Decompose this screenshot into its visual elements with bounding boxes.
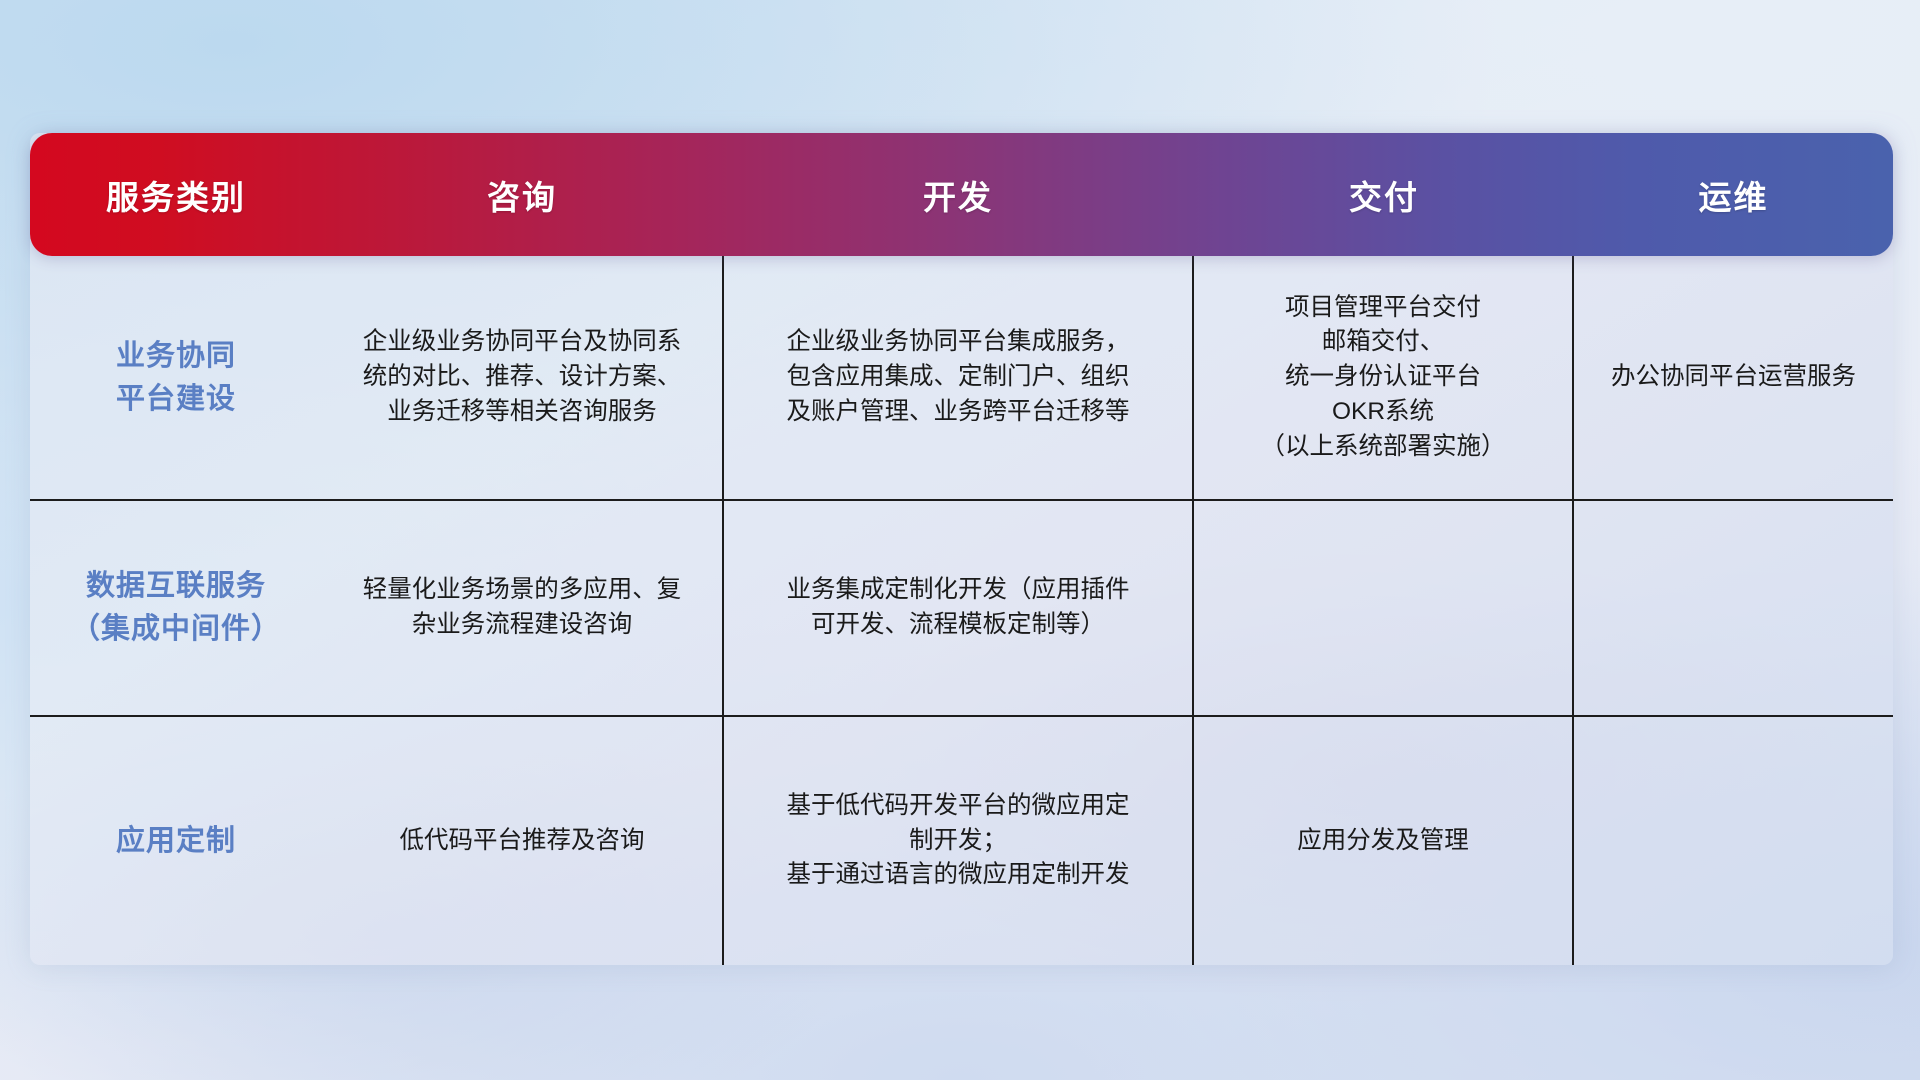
cell-development: 企业级业务协同平台集成服务， 包含应用集成、定制门户、组织 及账户管理、业务跨平… bbox=[722, 256, 1194, 499]
table-row: 应用定制 低代码平台推荐及咨询 基于低代码开发平台的微应用定 制开发； 基于通过… bbox=[30, 717, 1893, 965]
column-header-development: 开发 bbox=[722, 171, 1194, 219]
cell-delivery: 项目管理平台交付 邮箱交付、 统一身份认证平台 OKR系统 （以上系统部署实施） bbox=[1194, 256, 1574, 499]
cell-consulting: 企业级业务协同平台及协同系 统的对比、推荐、设计方案、 业务迁移等相关咨询服务 bbox=[322, 256, 722, 499]
cell-consulting: 轻量化业务场景的多应用、复 杂业务流程建设咨询 bbox=[322, 501, 722, 715]
cell-development: 基于低代码开发平台的微应用定 制开发； 基于通过语言的微应用定制开发 bbox=[722, 717, 1194, 965]
row-category-label: 业务协同 平台建设 bbox=[30, 256, 322, 499]
table-row: 业务协同 平台建设 企业级业务协同平台及协同系 统的对比、推荐、设计方案、 业务… bbox=[30, 256, 1893, 501]
column-header-consulting: 咨询 bbox=[322, 171, 722, 219]
column-header-delivery: 交付 bbox=[1194, 171, 1574, 219]
row-category-label: 数据互联服务 （集成中间件） bbox=[30, 501, 322, 715]
column-header-category: 服务类别 bbox=[30, 171, 322, 219]
cell-delivery: 应用分发及管理 bbox=[1194, 717, 1574, 965]
cell-operations bbox=[1574, 717, 1893, 965]
cell-development: 业务集成定制化开发（应用插件 可开发、流程模板定制等） bbox=[722, 501, 1194, 715]
table-header-row: 服务类别 咨询 开发 交付 运维 bbox=[30, 133, 1893, 256]
cell-operations bbox=[1574, 501, 1893, 715]
row-category-label: 应用定制 bbox=[30, 717, 322, 965]
cell-consulting: 低代码平台推荐及咨询 bbox=[322, 717, 722, 965]
column-header-operations: 运维 bbox=[1574, 171, 1893, 219]
cell-operations: 办公协同平台运营服务 bbox=[1574, 256, 1893, 499]
cell-delivery bbox=[1194, 501, 1574, 715]
table-row: 数据互联服务 （集成中间件） 轻量化业务场景的多应用、复 杂业务流程建设咨询 业… bbox=[30, 501, 1893, 717]
table-body: 业务协同 平台建设 企业级业务协同平台及协同系 统的对比、推荐、设计方案、 业务… bbox=[30, 256, 1893, 965]
